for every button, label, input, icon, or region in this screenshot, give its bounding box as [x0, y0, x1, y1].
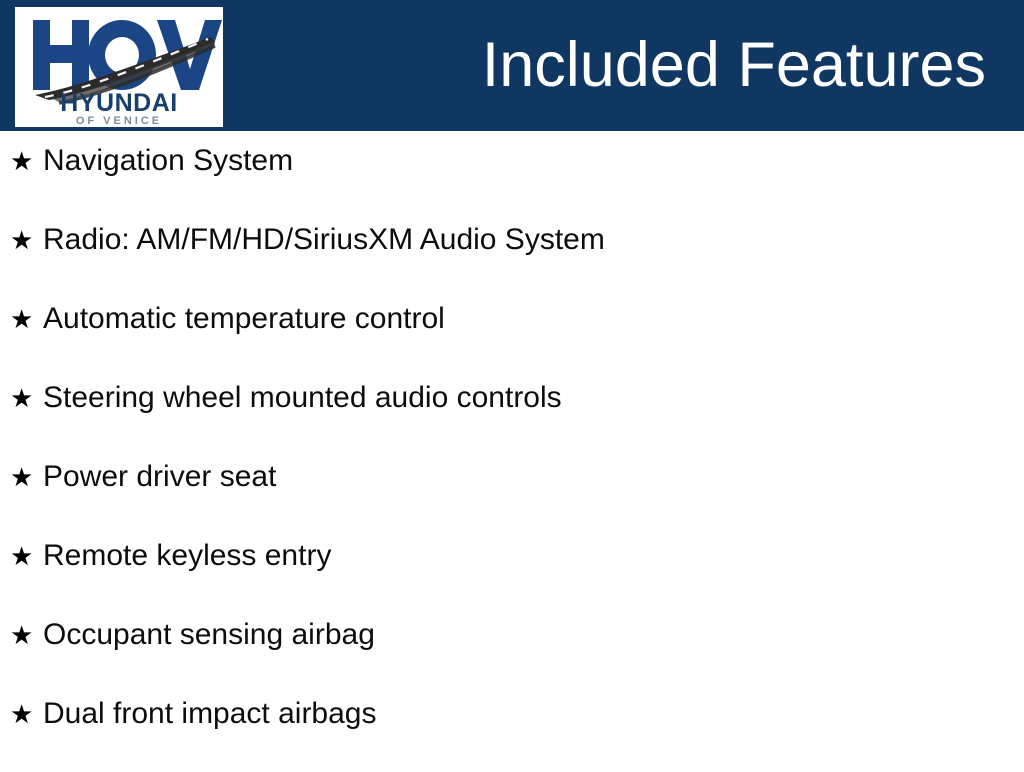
list-item: ★ Navigation System: [0, 140, 1024, 219]
feature-label: Navigation System: [43, 140, 1024, 182]
logo-location-text: OF VENICE: [76, 115, 162, 127]
feature-label: Steering wheel mounted audio controls: [43, 377, 1024, 419]
list-item: ★ Remote keyless entry: [0, 535, 1024, 614]
list-item: ★ Radio: AM/FM/HD/SiriusXM Audio System: [0, 219, 1024, 298]
list-item: ★ Power driver seat: [0, 456, 1024, 535]
logo-artwork: HYUNDAI OF VENICE: [15, 7, 223, 127]
page-title: Included Features: [482, 21, 986, 109]
feature-label: Automatic temperature control: [43, 298, 1024, 340]
list-item: ★ Dual front impact airbags: [0, 693, 1024, 772]
feature-label: Occupant sensing airbag: [43, 614, 1024, 656]
star-bullet-icon: ★: [10, 377, 43, 419]
slide-body: ★ Navigation System ★ Radio: AM/FM/HD/Si…: [0, 131, 1024, 768]
slide-header: HYUNDAI OF VENICE Included Features: [0, 0, 1024, 131]
feature-label: Radio: AM/FM/HD/SiriusXM Audio System: [43, 219, 1024, 261]
star-bullet-icon: ★: [10, 298, 43, 340]
star-bullet-icon: ★: [10, 535, 43, 577]
feature-label: Remote keyless entry: [43, 535, 1024, 577]
included-features-list: ★ Navigation System ★ Radio: AM/FM/HD/Si…: [0, 140, 1024, 772]
feature-label: Power driver seat: [43, 456, 1024, 498]
list-item: ★ Steering wheel mounted audio controls: [0, 377, 1024, 456]
star-bullet-icon: ★: [10, 614, 43, 656]
logo-brand-text: HYUNDAI: [60, 89, 177, 117]
star-bullet-icon: ★: [10, 456, 43, 498]
feature-label: Dual front impact airbags: [43, 693, 1024, 735]
star-bullet-icon: ★: [10, 140, 43, 182]
list-item: ★ Automatic temperature control: [0, 298, 1024, 377]
star-bullet-icon: ★: [10, 693, 43, 735]
list-item: ★ Occupant sensing airbag: [0, 614, 1024, 693]
star-bullet-icon: ★: [10, 219, 43, 261]
dealer-logo: HYUNDAI OF VENICE: [15, 7, 223, 127]
hov-hyundai-of-venice-logo-svg: HYUNDAI OF VENICE: [15, 7, 223, 127]
